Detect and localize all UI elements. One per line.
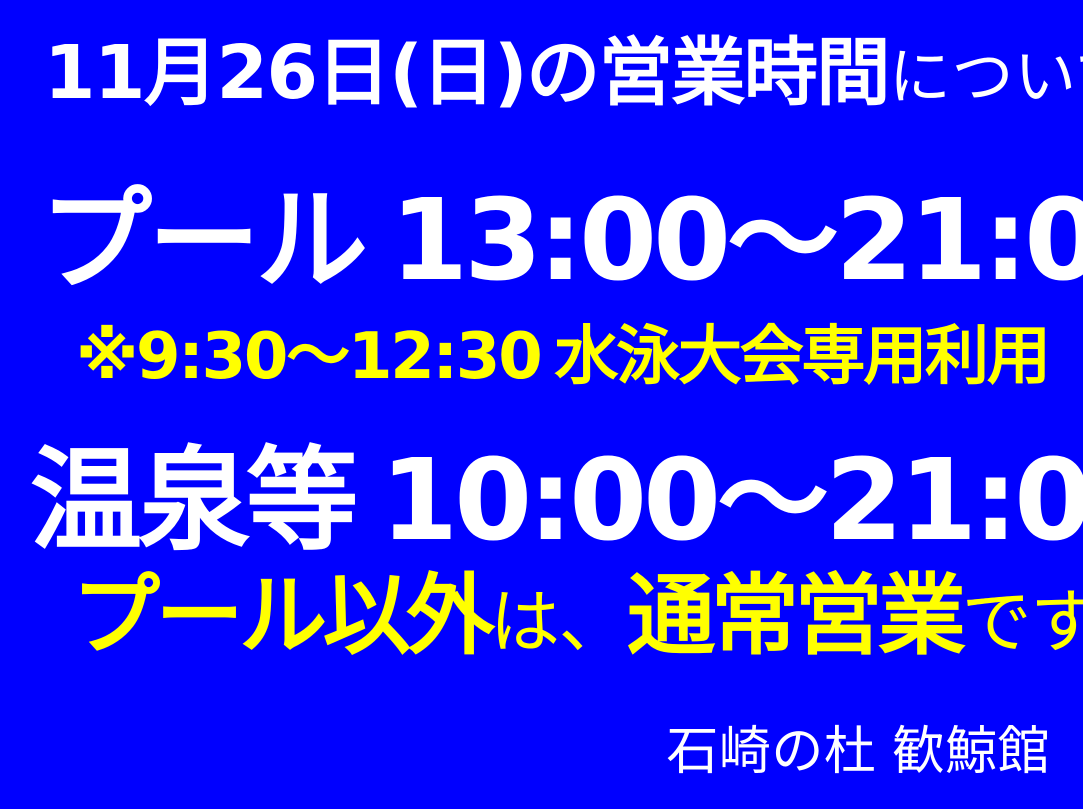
onsen-label: 温泉等 <box>30 436 354 566</box>
title-subject: の営業時間 <box>526 30 889 116</box>
closing-subject: プール以外 <box>72 564 490 667</box>
pool-label: プール <box>40 176 364 306</box>
facility-name: 歓鯨館 <box>892 722 1050 782</box>
facility-area: 石崎の杜 <box>666 722 876 782</box>
onsen-hours-row: 温泉等10:00～21:00 <box>30 445 1083 557</box>
title-date: 11月26日(日) <box>44 30 526 116</box>
pool-note-reason: 水泳大会専用利用 <box>555 320 1049 394</box>
title-tail: について <box>889 40 1083 113</box>
notice-poster: 11月26日(日)の営業時間について プール13:00～21:00 ※9:30～… <box>0 0 1083 809</box>
onsen-hours: 10:00～21:00 <box>380 436 1083 566</box>
closing-copula: です。 <box>962 581 1083 663</box>
pool-hours: 13:00～21:00 <box>390 176 1083 306</box>
page-title: 11月26日(日)の営業時間について <box>44 36 1083 110</box>
closing-status: 通常営業 <box>627 564 961 667</box>
pool-note-hours: ※9:30～12:30 <box>76 320 541 394</box>
facility-name-footer: 石崎の杜歓鯨館 <box>666 726 1050 778</box>
closing-particle: は、 <box>490 581 627 663</box>
closing-statement-row: プール以外は、通常営業です。 <box>72 572 1083 660</box>
pool-hours-row: プール13:00～21:00 <box>40 185 1083 297</box>
pool-note-row: ※9:30～12:30水泳大会専用利用 <box>76 325 1049 389</box>
